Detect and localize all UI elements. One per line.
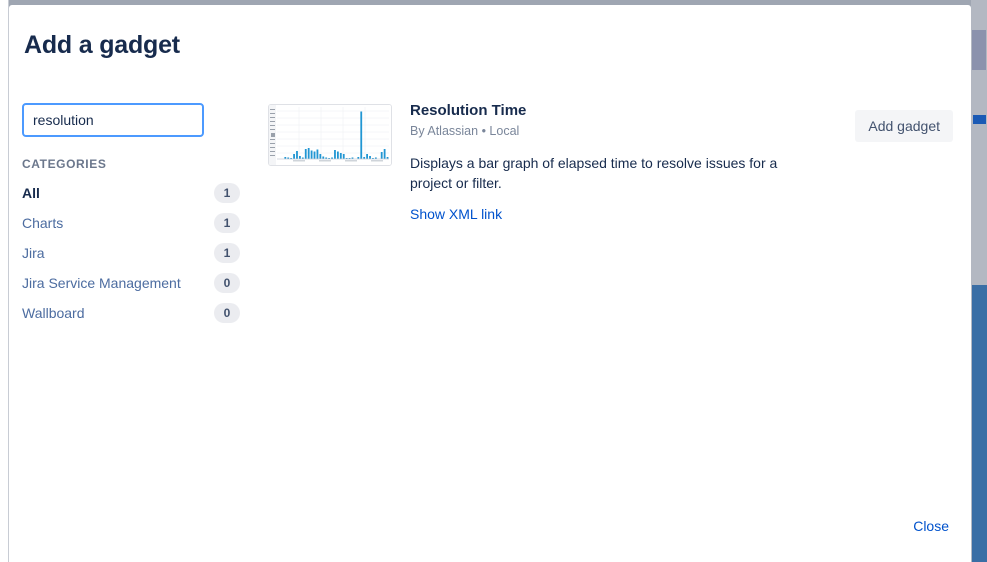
category-count-badge: 1 xyxy=(214,213,240,233)
close-button[interactable]: Close xyxy=(913,518,949,534)
scrollbar-marker-upper xyxy=(972,30,986,70)
category-list: All 1 Charts 1 Jira 1 Jira Service Manag… xyxy=(22,178,237,328)
category-label: All xyxy=(22,185,40,201)
category-count-badge: 1 xyxy=(214,183,240,203)
category-label: Wallboard xyxy=(22,305,85,321)
page-title: Add a gadget xyxy=(24,31,180,60)
show-xml-link[interactable]: Show XML link xyxy=(410,206,502,222)
category-count-badge: 0 xyxy=(214,303,240,323)
vertical-scrollbar-thumb[interactable] xyxy=(972,285,987,562)
categories-heading: CATEGORIES xyxy=(22,157,237,171)
category-item-all[interactable]: All 1 xyxy=(22,178,240,208)
add-gadget-dialog: Add a gadget CATEGORIES All 1 Charts 1 J… xyxy=(9,5,971,562)
category-item-wallboard[interactable]: Wallboard 0 xyxy=(22,298,240,328)
scrollbar-marker-highlight xyxy=(973,115,986,124)
category-label: Charts xyxy=(22,215,63,231)
category-item-jira-service-management[interactable]: Jira Service Management 0 xyxy=(22,268,240,298)
gadget-info: Resolution Time By Atlassian • Local Dis… xyxy=(410,102,810,224)
category-label: Jira Service Management xyxy=(22,275,181,291)
category-item-jira[interactable]: Jira 1 xyxy=(22,238,240,268)
bar-chart-thumbnail-icon xyxy=(268,104,392,166)
gadget-description: Displays a bar graph of elapsed time to … xyxy=(410,153,794,193)
screen-root: Add a gadget CATEGORIES All 1 Charts 1 J… xyxy=(0,0,987,562)
add-gadget-button[interactable]: Add gadget xyxy=(855,110,953,142)
category-count-badge: 1 xyxy=(214,243,240,263)
category-item-charts[interactable]: Charts 1 xyxy=(22,208,240,238)
gadget-filter-panel: CATEGORIES All 1 Charts 1 Jira 1 Jira Se… xyxy=(22,103,237,328)
search-input[interactable] xyxy=(22,103,204,137)
gadget-title: Resolution Time xyxy=(410,102,810,120)
category-label: Jira xyxy=(22,245,45,261)
gadget-byline: By Atlassian • Local xyxy=(410,123,810,139)
category-count-badge: 0 xyxy=(214,273,240,293)
